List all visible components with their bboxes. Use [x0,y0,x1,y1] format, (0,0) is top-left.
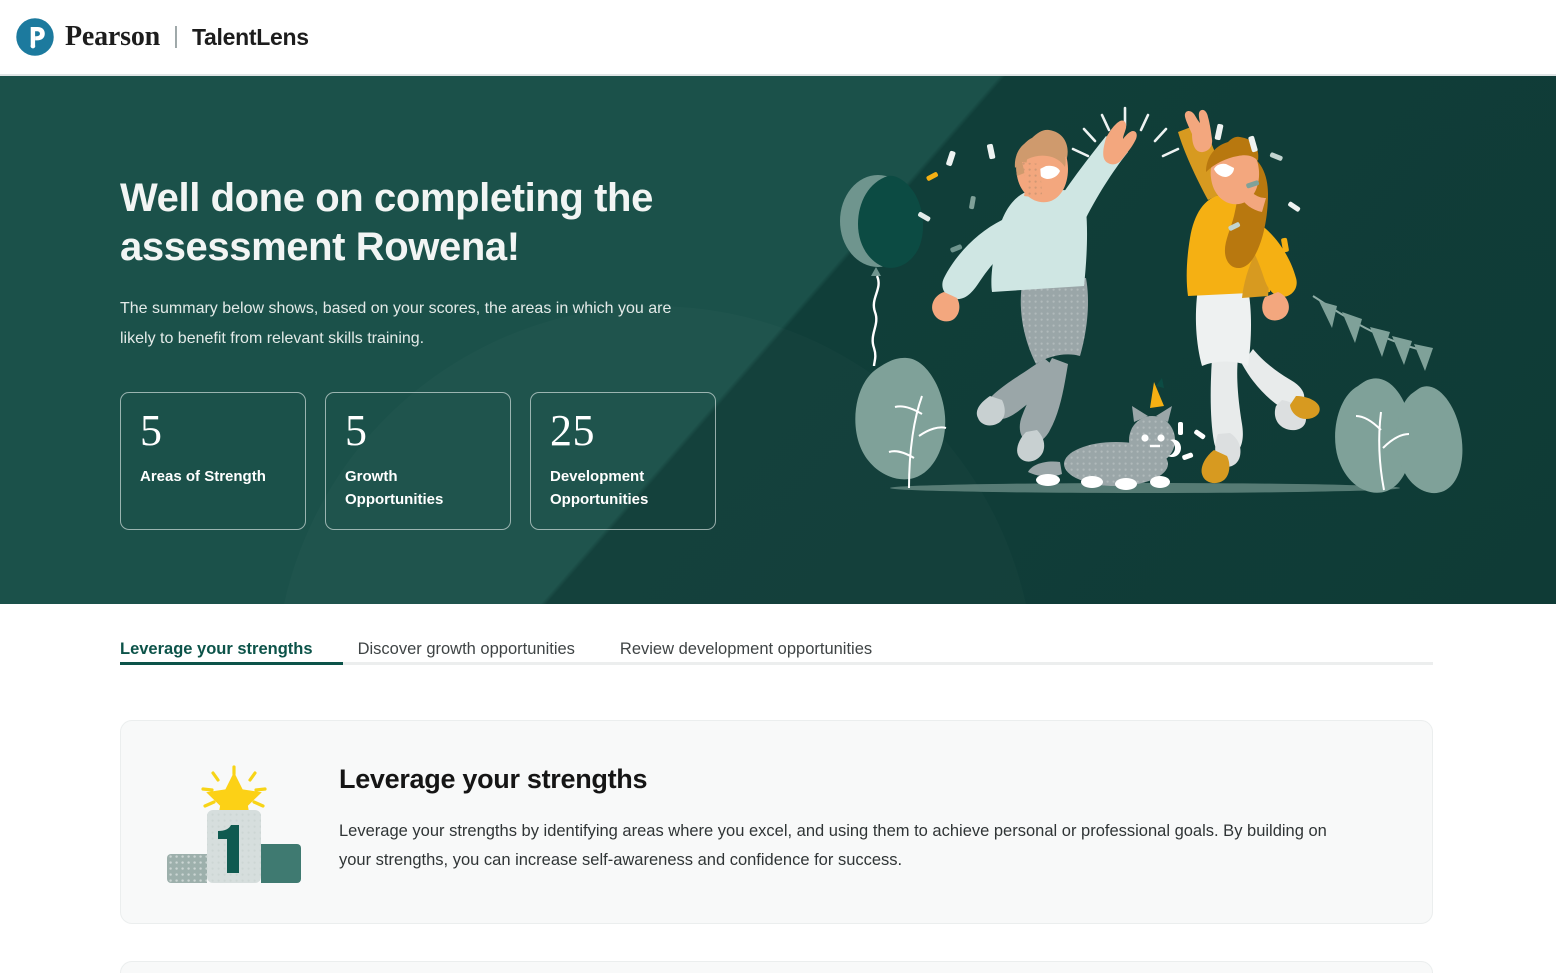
stat-value: 25 [550,409,696,454]
hero-subtitle: The summary below shows, based on your s… [120,294,680,354]
podium-icon-svg [163,765,305,883]
hero-banner: Well done on completing the assessment R… [0,76,1556,604]
tab-leverage-your-strengths[interactable]: Leverage your strengths [120,640,313,677]
tab-active-indicator [120,662,343,665]
card-description: Leverage your strengths by identifying a… [339,817,1349,875]
pearson-interrobang-icon [16,18,54,56]
next-info-card-partial [120,961,1433,973]
stat-value: 5 [140,409,286,454]
stat-card-growth-opportunities: 5 Growth Opportunities [325,392,511,530]
strengths-info-card: Leverage your strengths Leverage your st… [120,720,1433,924]
brand-separator: | [173,24,179,50]
stat-value: 5 [345,409,491,454]
card-title: Leverage your strengths [339,763,1392,795]
stat-card-development-opportunities: 25 Development Opportunities [530,392,716,530]
tab-rail [120,662,1433,665]
report-tabs: Leverage your strengths Discover growth … [0,604,1556,677]
brand-product-name: TalentLens [192,26,309,49]
tab-discover-growth-opportunities[interactable]: Discover growth opportunities [358,640,575,677]
app-header: Pearson | TalentLens [0,0,1556,76]
celebration-illustration [830,96,1470,526]
hero-stat-cards: 5 Areas of Strength 5 Growth Opportuniti… [120,392,716,530]
brand-logo[interactable]: Pearson | TalentLens [16,18,309,56]
tab-panel-leverage-your-strengths: Leverage your strengths Leverage your st… [120,720,1433,973]
hero-copy: Well done on completing the assessment R… [120,174,720,354]
podium-first-place-star-icon [163,757,305,883]
high-five-illustration-svg [830,96,1470,526]
brand-name: Pearson [65,23,160,51]
tab-review-development-opportunities[interactable]: Review development opportunities [620,640,872,677]
stat-label: Development Opportunities [550,466,696,512]
hero-title: Well done on completing the assessment R… [120,174,680,272]
stat-label: Growth Opportunities [345,466,491,512]
stat-label: Areas of Strength [140,466,286,489]
stat-card-areas-of-strength: 5 Areas of Strength [120,392,306,530]
